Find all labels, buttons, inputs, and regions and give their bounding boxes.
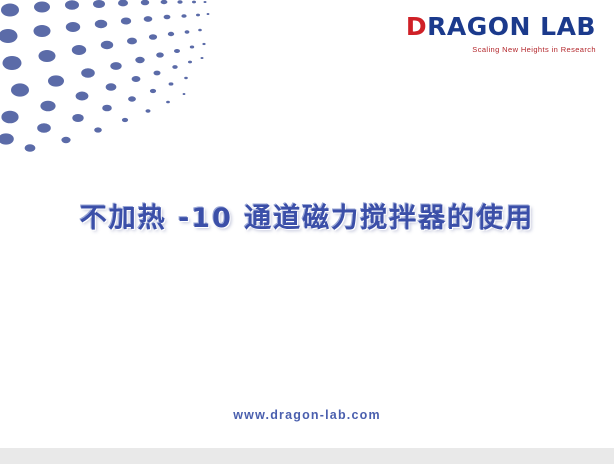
logo-wordmark: DRAGON LAB — [406, 14, 596, 39]
bottom-band — [0, 448, 614, 464]
footer-website-url[interactable]: www.dragon-lab.com — [0, 408, 614, 422]
presentation-slide: DRAGON LAB Scaling New Heights in Resear… — [0, 0, 614, 464]
brand-logo: DRAGON LAB Scaling New Heights in Resear… — [406, 14, 596, 54]
title-container: 不加热 -10 通道磁力搅拌器的使用 — [0, 196, 614, 235]
logo-text-ragon: RAGON — [427, 12, 531, 41]
logo-letter-d: D — [406, 12, 427, 41]
logo-text-lab: LAB — [540, 12, 596, 41]
slide-title: 不加热 -10 通道磁力搅拌器的使用 — [80, 196, 535, 235]
logo-tagline: Scaling New Heights in Research — [406, 45, 596, 54]
halftone-dots-decoration — [0, 0, 210, 160]
